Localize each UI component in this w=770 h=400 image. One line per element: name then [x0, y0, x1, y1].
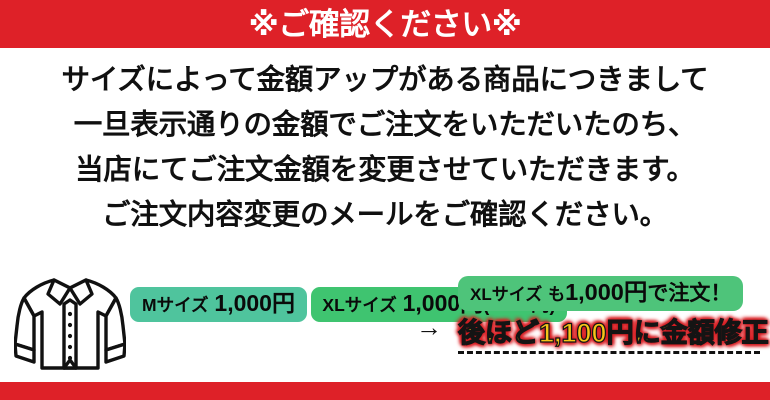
badge-m-size-price: Mサイズ 1,000円 — [130, 287, 307, 322]
price-fix-notice: 後ほど1,100円に金額修正 — [458, 319, 769, 349]
header-banner: ※ご確認ください※ — [0, 0, 770, 48]
notice-line-4: ご注文内容変更のメールをご確認ください。 — [0, 193, 770, 238]
dashed-underline — [458, 351, 760, 354]
arrow-right-icon: → — [404, 314, 454, 340]
badge-xl-ok-price-value: 1,000円 — [565, 279, 647, 305]
badge-xl-size-label: XLサイズ — [322, 295, 396, 315]
notice-line-1: サイズによって金額アップがある商品につきまして — [0, 58, 770, 103]
notice-line-3: 当店にてご注文金額を変更させていただきます。 — [0, 148, 770, 193]
badge-xl-ok-mo: も — [548, 285, 565, 304]
badge-m-price-value: 1,000円 — [214, 290, 295, 316]
badge-m-size-label: Mサイズ — [142, 295, 209, 315]
badge-xl-ok-size-label: XLサイズ — [470, 285, 542, 304]
notice-block: サイズによって金額アップがある商品につきまして 一旦表示通りの金額でご注文をいた… — [0, 58, 770, 238]
after-price-block: XLサイズ も1,000円で注文！ 後ほど1,100円に金額修正 — [458, 276, 769, 354]
footer-bar — [0, 382, 770, 400]
header-banner-title: ※ご確認ください※ — [249, 9, 522, 40]
notice-line-2: 一旦表示通りの金額でご注文をいただいたのち、 — [0, 103, 770, 148]
price-comparison-area: Mサイズ 1,000円 XLサイズ 1,000円(+100円) → XLサイズ … — [0, 262, 770, 382]
badge-xl-order-ok: XLサイズ も1,000円で注文！ — [458, 276, 743, 311]
badge-xl-ok-tail: で注文！ — [647, 282, 731, 305]
dress-shirt-icon — [14, 270, 126, 378]
